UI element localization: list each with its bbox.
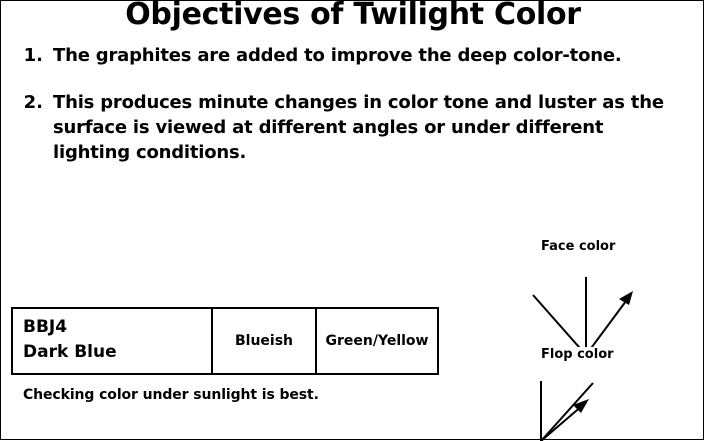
face-color-label: Face color — [541, 239, 615, 254]
face-color-angle-svg — [501, 255, 701, 347]
list-item-text: This produces minute changes in color to… — [53, 90, 683, 165]
incident-ray — [533, 295, 586, 347]
incident-ray — [541, 383, 593, 441]
slide-page: Objectives of Twilight Color 1. The grap… — [0, 0, 704, 440]
list-item: 1. The graphites are added to improve th… — [23, 43, 683, 68]
color-table: BBJ4 Dark Blue Blueish Green/Yellow — [11, 307, 439, 375]
table-cell-flop-tint: Green/Yellow — [317, 309, 437, 373]
view-ray — [586, 297, 629, 347]
color-name: Dark Blue — [23, 340, 211, 365]
table-cell-color-code: BBJ4 Dark Blue — [13, 309, 213, 373]
viewing-angle-diagram: Face color Flop color — [501, 239, 701, 439]
flop-color-label: Flop color — [541, 347, 614, 362]
footnote-text: Checking color under sunlight is best. — [23, 387, 319, 403]
arrow-head-icon — [619, 291, 633, 305]
list-item-text: The graphites are added to improve the d… — [53, 43, 622, 68]
view-ray — [541, 405, 583, 441]
table-cell-face-tint: Blueish — [213, 309, 317, 373]
list-item: 2. This produces minute changes in color… — [23, 90, 683, 165]
page-title: Objectives of Twilight Color — [1, 0, 704, 32]
list-item-number: 2. — [23, 90, 53, 115]
flop-color-angle-svg — [501, 365, 701, 441]
color-code: BBJ4 — [23, 315, 211, 340]
objectives-list: 1. The graphites are added to improve th… — [23, 43, 683, 183]
list-item-number: 1. — [23, 43, 53, 68]
